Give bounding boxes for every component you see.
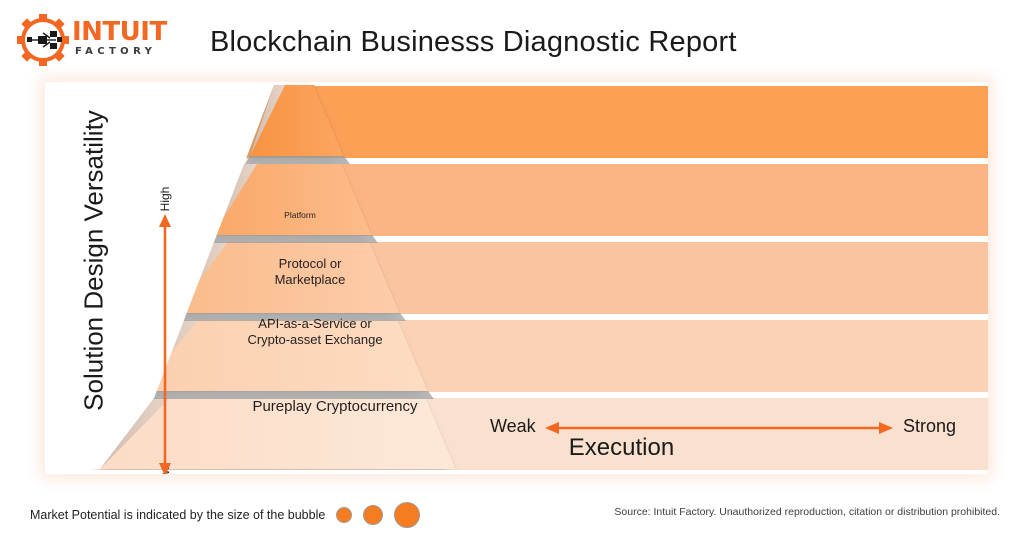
page-title: Blockchain Businesss Diagnostic Report <box>210 26 737 59</box>
logo-name-secondary: FACTORY <box>72 45 192 58</box>
gear-network-icon <box>14 14 72 66</box>
bubble-size-legend: Market Potential is indicated by the siz… <box>30 502 420 528</box>
source-attribution: Source: Intuit Factory. Unauthorized rep… <box>614 506 1000 518</box>
x-axis-group: Weak Strong Execution <box>45 82 988 474</box>
page-header: INTUIT FACTORY Blockchain Businesss Diag… <box>0 0 1024 82</box>
legend-bubble-medium <box>363 505 383 525</box>
legend-bubble-small <box>336 507 352 523</box>
brand-logo: INTUIT FACTORY <box>14 14 190 66</box>
legend-caption: Market Potential is indicated by the siz… <box>30 508 325 522</box>
page-footer: Market Potential is indicated by the siz… <box>0 474 1024 536</box>
chart-card: Platform Protocol or Marketplace API-as-… <box>45 82 988 474</box>
logo-wordmark: INTUIT FACTORY <box>72 19 192 63</box>
logo-name-primary: INTUIT <box>72 19 192 45</box>
legend-bubble-large <box>394 502 420 528</box>
x-axis-title: Execution <box>45 434 988 462</box>
